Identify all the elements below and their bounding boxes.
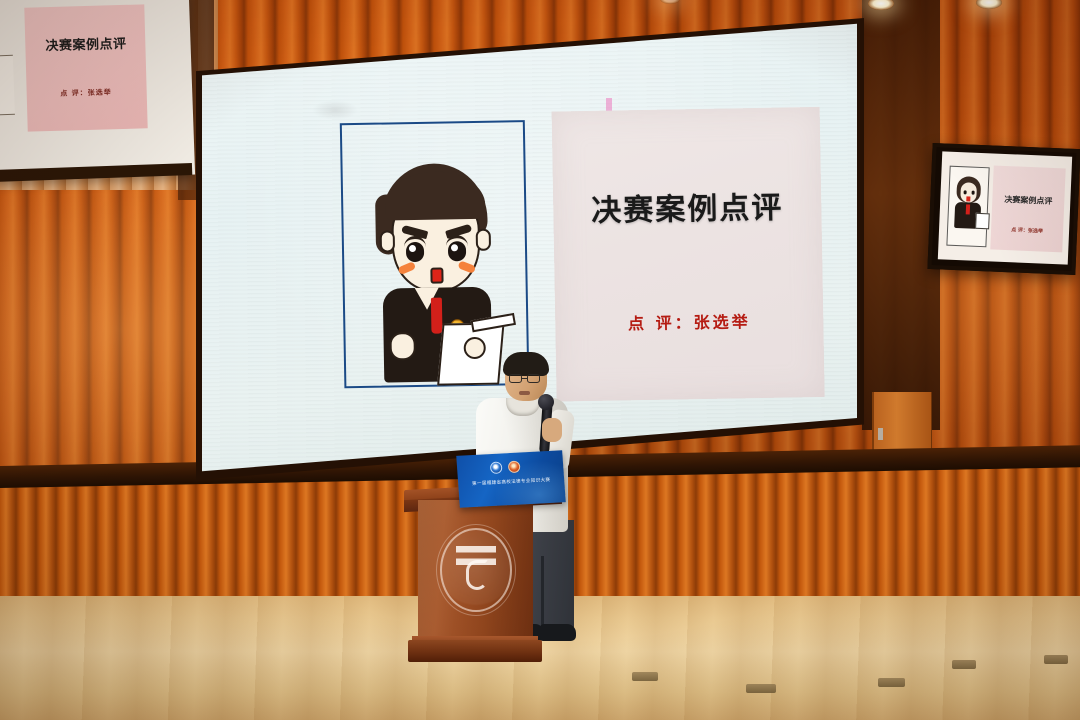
right-wall-monitor-screen: 决赛案例点评 点 评：张选举	[938, 151, 1072, 264]
banner-blue-crest-icon	[490, 461, 503, 474]
right-monitor-toon-paper	[975, 213, 990, 230]
podium-base	[408, 640, 542, 662]
glasses-bridge-icon	[522, 378, 527, 379]
right-monitor-text-panel	[990, 165, 1065, 252]
floor-socket-plate	[878, 678, 905, 687]
toon-ear	[476, 229, 491, 251]
floor-socket-plate	[1044, 655, 1068, 664]
left-monitor-slide-title: 决赛案例点评	[26, 32, 146, 54]
floor-socket-plate	[746, 684, 776, 693]
floor-socket-plate	[632, 672, 658, 681]
right-monitor-toon-eye	[972, 191, 975, 195]
slide-subtitle: 点 评：张选举	[555, 307, 823, 336]
crest-swirl-icon	[466, 560, 488, 590]
toon-ear	[380, 230, 395, 252]
podium-banner-sign: 第一届福建省高校法律专业知识大赛	[456, 450, 565, 507]
university-crest-icon	[440, 528, 512, 612]
floor-socket-plate	[952, 660, 976, 669]
toon-eye	[448, 241, 466, 261]
toon-mouth	[430, 268, 443, 284]
glasses-icon	[509, 374, 522, 383]
right-monitor-toon-mouth	[966, 196, 970, 201]
glasses-icon	[527, 374, 540, 383]
auditorium-scene: 决赛案例点评 点 评：张选举 决赛案例点评 点 评：张选举	[0, 0, 1080, 720]
right-monitor-toon-eye	[964, 190, 967, 194]
right-monitor-toon-tie	[966, 204, 970, 214]
crest-mark	[456, 546, 496, 594]
slide-text-panel	[552, 107, 825, 402]
speaker-mouth	[519, 391, 530, 395]
speaker-hand	[542, 418, 562, 442]
left-monitor-sketch-edge	[0, 55, 15, 116]
toon-tie	[431, 298, 443, 334]
speaker-shoe	[540, 624, 576, 641]
speaker-hair	[503, 352, 549, 376]
left-monitor-slide-panel	[24, 4, 147, 131]
wall-recess-right	[862, 0, 940, 430]
microphone-head-icon	[538, 394, 554, 410]
toon-fist-hand	[389, 332, 415, 360]
toon-eye	[406, 242, 424, 262]
door-plate	[878, 428, 883, 440]
cartoon-judge-illustration	[350, 140, 524, 393]
slide-title: 决赛案例点评	[553, 182, 822, 231]
